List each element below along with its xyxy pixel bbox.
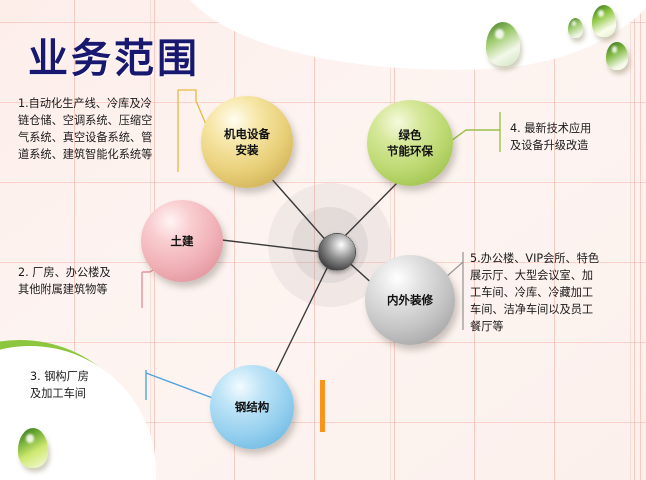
slide-canvas: 业务范围 机电设备 安装 绿色 节能环保 土建 内外装修 钢结构 1.自动化生产… bbox=[0, 0, 646, 480]
orange-accent-bar bbox=[320, 380, 325, 432]
node-interior-exterior[interactable]: 内外装修 bbox=[365, 255, 455, 345]
node-electromechanical[interactable]: 机电设备 安装 bbox=[201, 96, 293, 188]
center-hub-sphere bbox=[318, 233, 356, 271]
page-title: 业务范围 bbox=[28, 26, 200, 84]
description-item-4: 4. 最新技术应用 及设备升级改造 bbox=[510, 120, 642, 154]
description-item-5: 5.办公楼、VIP会所、特色 展示厅、大型会议室、加 工车间、冷库、冷藏加工 车… bbox=[470, 250, 642, 335]
node-steel-structure[interactable]: 钢结构 bbox=[210, 365, 294, 449]
node-green-energy-label: 绿色 节能环保 bbox=[387, 127, 433, 159]
node-green-energy[interactable]: 绿色 节能环保 bbox=[367, 100, 453, 186]
description-item-1: 1.自动化生产线、冷库及冷 链仓储、空调系统、压缩空 气系统、真空设备系统、管 … bbox=[18, 95, 178, 163]
node-interior-exterior-label: 内外装修 bbox=[387, 292, 433, 308]
node-civil-works[interactable]: 土建 bbox=[141, 200, 223, 282]
description-item-2: 2. 厂房、办公楼及 其他附属建筑物等 bbox=[18, 264, 148, 298]
description-item-3: 3. 钢构厂房 及加工车间 bbox=[30, 368, 150, 402]
node-electromechanical-label: 机电设备 安装 bbox=[224, 126, 270, 158]
node-civil-works-label: 土建 bbox=[171, 233, 194, 249]
node-steel-structure-label: 钢结构 bbox=[235, 399, 270, 415]
